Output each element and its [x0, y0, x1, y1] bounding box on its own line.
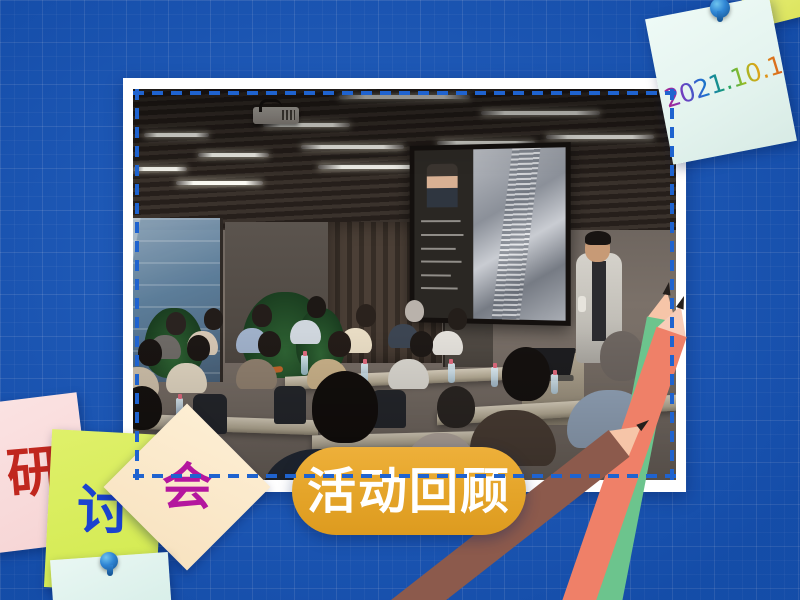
slide-skyscraper — [491, 147, 543, 320]
ceiling-projector — [253, 107, 299, 124]
audience-head — [307, 296, 326, 318]
slide-text-line — [422, 247, 456, 249]
slide-text-line — [422, 220, 461, 222]
audience-head — [405, 300, 424, 322]
audience-head — [356, 304, 376, 327]
date-label: 2021.10.15 — [661, 51, 784, 114]
slide-text-line — [422, 260, 462, 262]
audience-head — [448, 308, 467, 330]
led-light — [144, 133, 209, 137]
led-light — [133, 167, 187, 171]
chair — [274, 386, 306, 424]
audience-head — [138, 339, 162, 366]
audience-head — [502, 347, 550, 401]
audience-head — [204, 308, 223, 330]
photo-scene — [133, 89, 676, 480]
led-light — [198, 153, 269, 157]
led-light — [301, 145, 404, 149]
audience-head — [187, 335, 210, 361]
led-light — [339, 95, 469, 99]
audience-head — [258, 331, 281, 357]
water-bottle — [491, 367, 498, 387]
ceiling-slats — [133, 89, 676, 230]
date-sticky-note[interactable]: 2021.10.15 — [645, 0, 797, 165]
projection-screen-image — [415, 147, 566, 320]
audience-head — [252, 304, 272, 327]
water-bottle — [551, 374, 558, 394]
poster-canvas: 研 讨 会 2021.10.15 活动回顾 — [0, 0, 800, 600]
slide-text-line — [422, 274, 451, 276]
audience-shoulders — [432, 331, 463, 355]
presenter-hair — [585, 231, 611, 245]
water-bottle — [448, 363, 455, 383]
audience-head — [166, 312, 186, 335]
activity-review-badge[interactable]: 活动回顾 — [292, 447, 526, 535]
slide-portrait — [427, 163, 458, 207]
led-light — [176, 181, 263, 185]
microphone — [578, 296, 586, 312]
audience-head — [312, 371, 378, 443]
slide-text-line — [422, 287, 458, 290]
presenter-shirt — [592, 261, 606, 341]
audience-head — [410, 331, 433, 357]
led-light — [481, 111, 600, 115]
audience-shoulders — [166, 363, 207, 393]
pushpin-icon — [100, 552, 118, 570]
led-light — [263, 123, 350, 127]
sticky-note-char: 会 — [162, 462, 212, 512]
slide-text-line — [422, 234, 464, 236]
slide-text-panel — [415, 149, 474, 318]
led-light — [546, 135, 655, 139]
audience-head — [328, 331, 351, 357]
audience-head — [437, 386, 475, 428]
badge-label: 活动回顾 — [307, 467, 511, 516]
slide-building-photo — [471, 147, 566, 320]
projection-screen — [410, 142, 571, 326]
event-photo — [133, 89, 676, 480]
